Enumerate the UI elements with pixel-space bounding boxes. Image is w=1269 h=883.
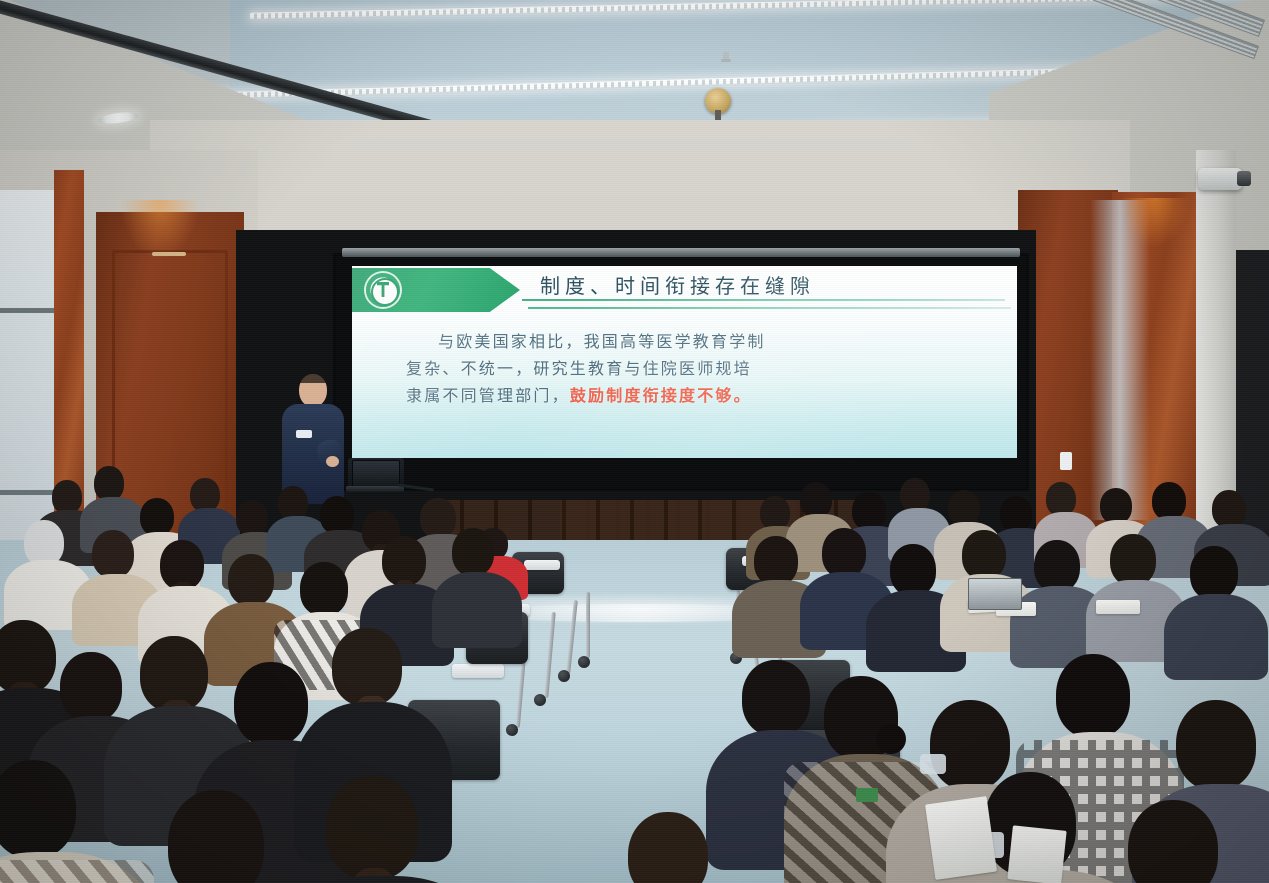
- presenter-head: [299, 374, 327, 407]
- plaid-jacket: [0, 860, 154, 883]
- wall-switch[interactable]: [1060, 452, 1072, 470]
- right-wall-light-glow: [1120, 198, 1190, 248]
- chair-tablet-arm: [524, 560, 560, 570]
- slide-body-text: 与欧美国家相比，我国高等医学教育学制 复杂、不统一，研究生教育与住院医师规培 隶…: [406, 328, 971, 409]
- chair-caster: [558, 670, 570, 682]
- chair-caster: [578, 656, 590, 668]
- door-handle[interactable]: [152, 252, 186, 256]
- laptop-base: [346, 486, 404, 492]
- handout-paper: [925, 796, 997, 880]
- slide-header: 制度、时间衔接存在缝隙: [352, 266, 1017, 314]
- chair-tablet-arm: [452, 664, 504, 678]
- wall-camera: [1198, 168, 1242, 190]
- right-wall-light-reflection: [1090, 200, 1150, 520]
- chair-caster: [506, 724, 518, 736]
- presenter-laptop[interactable]: [352, 460, 400, 488]
- chair-post: [586, 592, 590, 658]
- screen-top-bar: [342, 248, 1020, 257]
- slide-body-highlight: 鼓励制度衔接度不够。: [570, 386, 752, 405]
- presentation-slide: 制度、时间衔接存在缝隙 与欧美国家相比，我国高等医学教育学制 复杂、不统一，研究…: [352, 266, 1017, 458]
- presenter-badge: [296, 430, 312, 438]
- right-pillar: [1196, 150, 1236, 530]
- name-badge: [856, 788, 878, 802]
- university-hospital-emblem-icon: [366, 273, 400, 307]
- lecture-hall-photo: 制度、时间衔接存在缝隙 与欧美国家相比，我国高等医学教育学制 复杂、不统一，研究…: [0, 0, 1269, 883]
- ceiling-speaker: [705, 88, 731, 114]
- presenter: [282, 374, 352, 504]
- audience-laptop[interactable]: [968, 578, 1022, 610]
- handout-paper: [1096, 600, 1140, 614]
- chair-caster: [534, 694, 546, 706]
- presenter-hand: [326, 456, 339, 467]
- sprinkler-head: [723, 52, 729, 61]
- door-light-glow: [120, 200, 200, 260]
- slide-body-line: 复杂、不统一，研究生教育与住院医师规培: [406, 355, 752, 382]
- slide-title: 制度、时间衔接存在缝隙: [540, 272, 999, 300]
- handout-paper: [1007, 825, 1066, 883]
- title-rule: [528, 307, 1011, 309]
- slide-body-line: 隶属不同管理部门，: [406, 382, 570, 409]
- slide-body-line: 与欧美国家相比，我国高等医学教育学制: [438, 332, 766, 351]
